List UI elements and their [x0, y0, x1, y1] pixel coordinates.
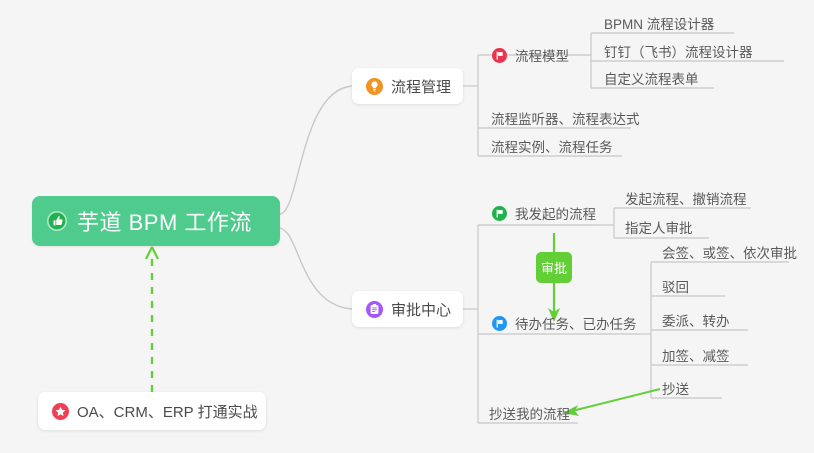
branch-node-approval-center[interactable]: 审批中心 — [352, 291, 463, 327]
root-node[interactable]: 芋道 BPM 工作流 — [32, 196, 280, 246]
leaf-label-cc: 抄送 — [662, 378, 689, 398]
leaf-delegate-transfer[interactable]: 委派、转办 — [662, 307, 730, 333]
leaf-label-reject: 驳回 — [662, 276, 689, 296]
flag-green-icon — [492, 206, 507, 221]
leaf-listener-expression[interactable]: 流程监听器、流程表达式 — [491, 105, 640, 131]
leaf-label-listener-expression: 流程监听器、流程表达式 — [491, 108, 640, 128]
node-label-todo-done: 待办任务、已办任务 — [515, 313, 637, 333]
leaf-countersign[interactable]: 会签、或签、依次审批 — [662, 239, 797, 265]
note-label: OA、CRM、ERP 打通实战 — [77, 401, 258, 422]
flag-blue-icon — [492, 316, 507, 331]
root-label: 芋道 BPM 工作流 — [77, 205, 252, 237]
branch-node-process-management[interactable]: 流程管理 — [352, 68, 463, 104]
leaf-label-delegate-transfer: 委派、转办 — [662, 310, 730, 330]
leaf-label-bpmn-designer: BPMN 流程设计器 — [604, 13, 714, 33]
thumbs-up-icon — [46, 210, 68, 232]
clipboard-icon — [366, 301, 383, 318]
node-process-model[interactable]: 流程模型 — [492, 42, 569, 68]
branch-label-process-management: 流程管理 — [391, 76, 451, 97]
leaf-label-cc-to-me: 抄送我的流程 — [489, 403, 570, 423]
tag-approval[interactable]: 审批 — [536, 252, 572, 283]
node-todo-done[interactable]: 待办任务、已办任务 — [492, 310, 637, 336]
leaf-custom-process-form[interactable]: 自定义流程表单 — [604, 65, 699, 91]
mindmap-canvas: 芋道 BPM 工作流 OA、CRM、ERP 打通实战 流程管理 — [0, 0, 814, 453]
leaf-label-custom-process-form: 自定义流程表单 — [604, 68, 699, 88]
leaf-cc-to-me[interactable]: 抄送我的流程 — [489, 400, 570, 426]
branch-label-approval-center: 审批中心 — [391, 299, 451, 320]
leaf-instance-task[interactable]: 流程实例、流程任务 — [491, 133, 613, 159]
note-card-oa-crm-erp[interactable]: OA、CRM、ERP 打通实战 — [38, 392, 266, 430]
tag-approval-label: 审批 — [541, 258, 567, 277]
node-my-initiated[interactable]: 我发起的流程 — [492, 200, 596, 226]
leaf-start-cancel[interactable]: 发起流程、撤销流程 — [625, 185, 747, 211]
leaf-add-remove-sign[interactable]: 加签、减签 — [662, 342, 730, 368]
node-label-my-initiated: 我发起的流程 — [515, 203, 596, 223]
leaf-label-countersign: 会签、或签、依次审批 — [662, 242, 797, 262]
leaf-assignee-approval[interactable]: 指定人审批 — [625, 214, 693, 240]
node-label-process-model: 流程模型 — [515, 45, 569, 65]
leaf-label-instance-task: 流程实例、流程任务 — [491, 136, 613, 156]
leaf-dingtalk-feishu-designer[interactable]: 钉钉（飞书）流程设计器 — [604, 38, 753, 64]
leaf-label-assignee-approval: 指定人审批 — [625, 217, 693, 237]
star-icon — [52, 403, 69, 420]
leaf-reject[interactable]: 驳回 — [662, 273, 689, 299]
leaf-cc[interactable]: 抄送 — [662, 375, 689, 401]
lightbulb-icon — [366, 78, 383, 95]
leaf-label-add-remove-sign: 加签、减签 — [662, 345, 730, 365]
leaf-label-start-cancel: 发起流程、撤销流程 — [625, 188, 747, 208]
leaf-label-dingtalk-feishu-designer: 钉钉（飞书）流程设计器 — [604, 41, 753, 61]
leaf-bpmn-designer[interactable]: BPMN 流程设计器 — [604, 10, 714, 36]
flag-red-icon — [492, 48, 507, 63]
